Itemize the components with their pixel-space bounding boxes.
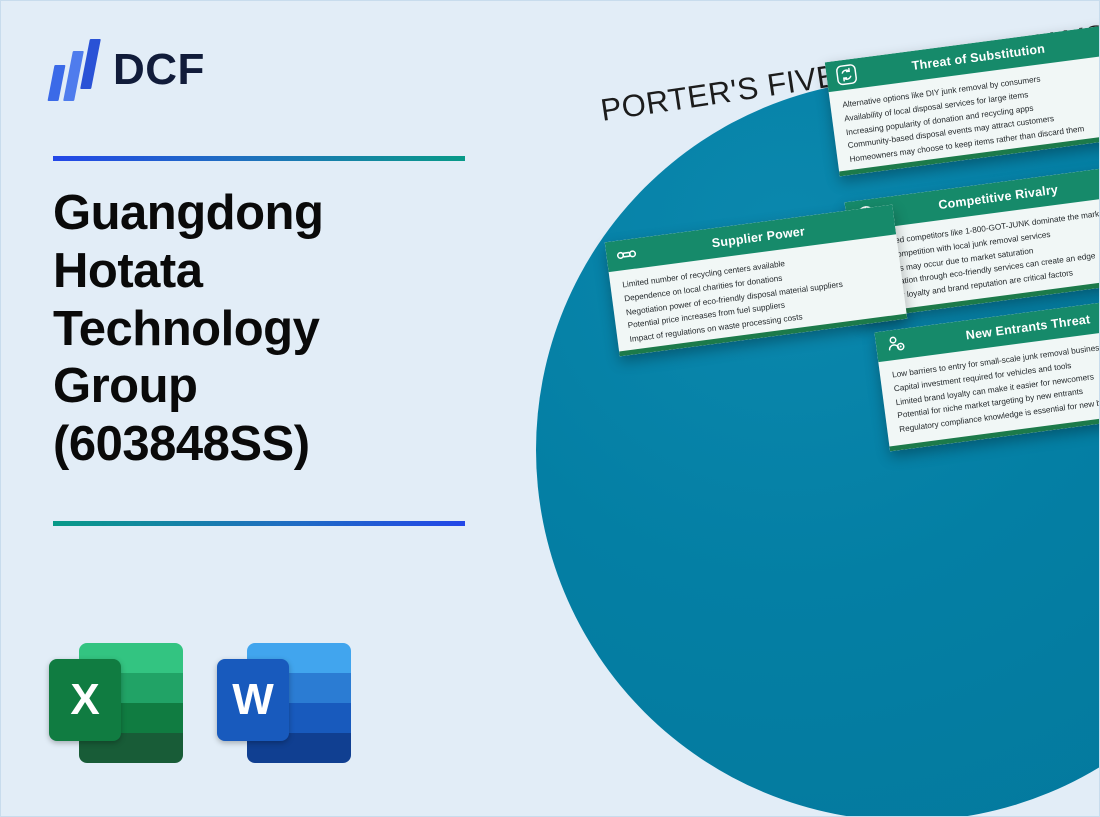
page-title-line: Group [53,358,473,416]
excel-download-icon[interactable]: X [49,637,183,763]
divider-bottom [53,521,465,526]
brand-name: DCF [113,48,205,92]
left-panel: DCF Guangdong Hotata Technology Group (6… [1,1,501,817]
word-icon-letter: W [217,659,289,741]
dcf-bars-logo-icon [51,39,103,101]
page-title: Guangdong Hotata Technology Group (60384… [53,185,473,474]
page-frame: PORTER'S FIVE FORCES ANALYSIS Threat of … [0,0,1100,817]
people-group-icon [884,332,909,357]
refresh-cycle-icon [834,62,859,87]
download-icons: X W [49,637,351,763]
excel-icon-letter: X [49,659,121,741]
brand-logo[interactable]: DCF [51,39,205,101]
porter-diagram: PORTER'S FIVE FORCES ANALYSIS Threat of … [431,1,1100,817]
page-title-line: (603848SS) [53,416,473,474]
link-bar-icon [614,242,639,267]
divider-top [53,156,465,161]
page-title-line: Technology [53,301,473,359]
word-download-icon[interactable]: W [217,637,351,763]
page-title-line: Guangdong [53,185,473,243]
page-title-line: Hotata [53,243,473,301]
